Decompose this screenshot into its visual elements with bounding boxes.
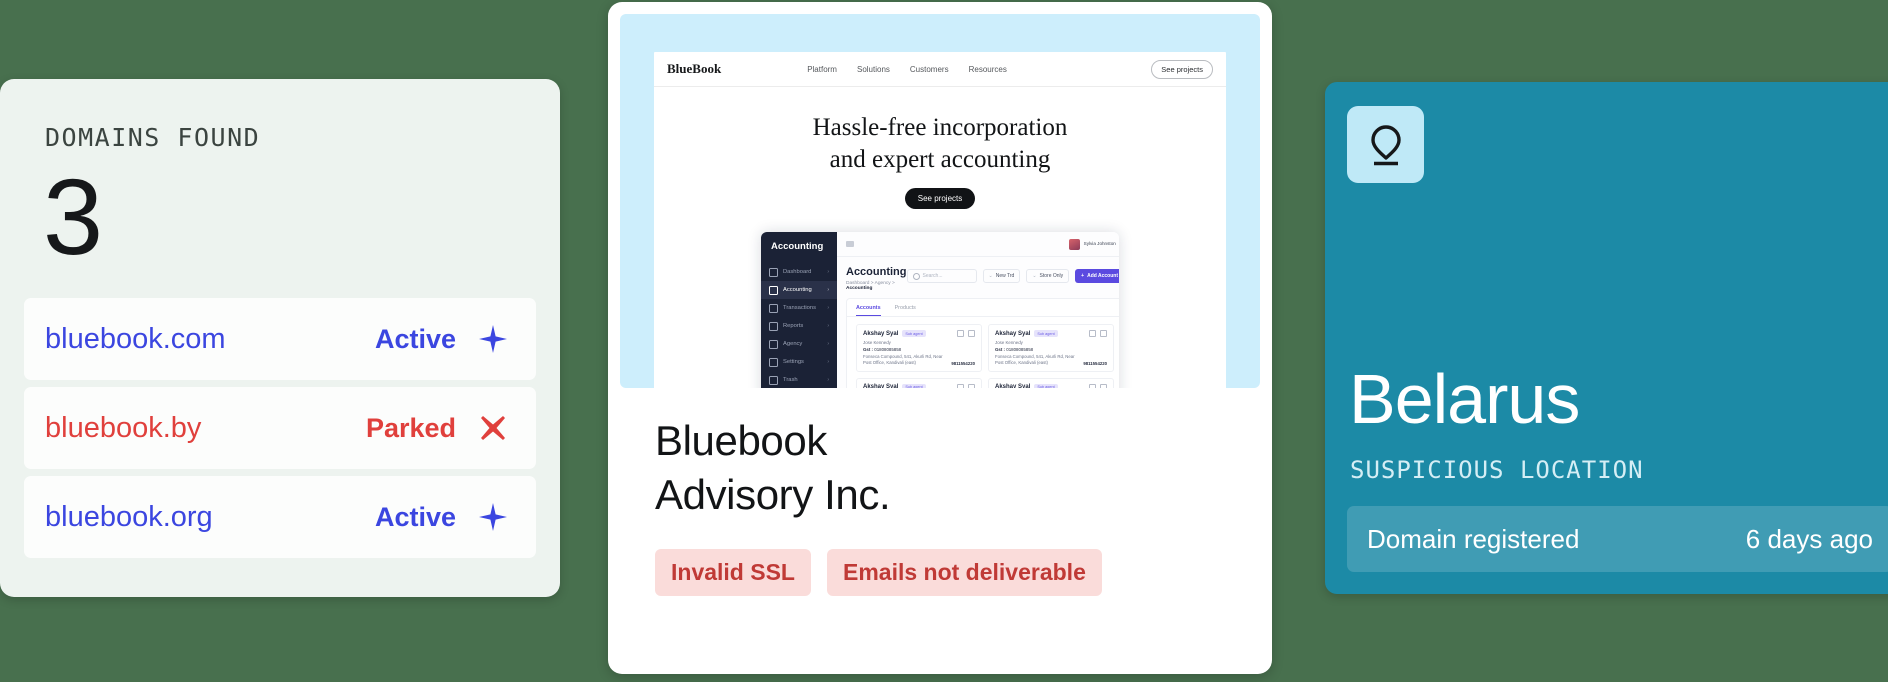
- dashboard-page-title: Accounting: [846, 266, 907, 278]
- website-preview-frame: BlueBook Platform Solutions Customers Re…: [620, 14, 1260, 388]
- domain-registered-row: Domain registered 6 days ago: [1347, 506, 1888, 572]
- tab-products[interactable]: Products: [895, 305, 916, 316]
- company-name-line2: Advisory Inc.: [620, 468, 1260, 522]
- domains-found-count: 3: [43, 162, 536, 272]
- account-footer: Fonseca Compound, 541, Akurli Rd, Near P…: [995, 354, 1107, 366]
- preview-nav-links: Platform Solutions Customers Resources: [807, 65, 1007, 74]
- dashboard-header: Accounting Dashboard > Agency > Accounti…: [837, 257, 1119, 291]
- sidebar-item-label: Dashboard: [783, 269, 811, 275]
- account-phone: 9811554220: [1083, 361, 1107, 366]
- preview-logo: BlueBook: [667, 61, 721, 77]
- trash-icon[interactable]: [968, 330, 975, 337]
- preview-navbar: BlueBook Platform Solutions Customers Re…: [654, 52, 1226, 87]
- chevron-right-icon: ›: [827, 305, 829, 311]
- domain-registered-value: 6 days ago: [1746, 524, 1873, 555]
- trash-icon[interactable]: [1100, 384, 1107, 388]
- sidebar-item-label: Settings: [783, 359, 804, 365]
- breadcrumb: Dashboard > Agency > Accounting: [846, 281, 907, 291]
- website-preview[interactable]: BlueBook Platform Solutions Customers Re…: [654, 52, 1226, 388]
- account-badge: Sub agent: [902, 384, 925, 388]
- plus-icon: +: [1081, 273, 1084, 279]
- sidebar-item-accounting[interactable]: Accounting ›: [761, 281, 837, 299]
- domain-row-bluebook-by[interactable]: bluebook.by Parked: [24, 387, 536, 469]
- domain-status: Active: [375, 502, 456, 533]
- sidebar-item-label: Agency: [783, 341, 802, 347]
- dashboard-toolbar: Search... ⌄ New Trd ⌄ Store Only: [907, 266, 1120, 283]
- sidebar-item-label: Accounting: [783, 287, 812, 293]
- domain-name: bluebook.com: [45, 323, 226, 356]
- dashboard-icon: [769, 268, 778, 277]
- preview-nav-platform[interactable]: Platform: [807, 65, 837, 74]
- filter-dropdown-two[interactable]: ⌄ Store Only: [1026, 269, 1069, 283]
- account-name: Akshay Syal: [995, 331, 1030, 337]
- chevron-right-icon: ›: [827, 341, 829, 347]
- plus-icon[interactable]: [472, 318, 514, 360]
- search-input[interactable]: Search...: [907, 269, 977, 283]
- add-account-button[interactable]: + Add Account: [1075, 269, 1119, 283]
- hamburger-icon[interactable]: [846, 241, 854, 247]
- domains-found-card: DOMAINS FOUND 3 bluebook.com Active blue…: [0, 79, 560, 597]
- account-actions: [1089, 330, 1107, 337]
- edit-icon[interactable]: [957, 384, 964, 388]
- account-name: Akshay Syal: [863, 331, 898, 337]
- domain-name: bluebook.by: [45, 412, 201, 445]
- gst-label: Gst :: [863, 347, 873, 352]
- status-badge-invalid-ssl[interactable]: Invalid SSL: [655, 549, 811, 596]
- breadcrumb-current: Accounting: [846, 286, 872, 291]
- preview-headline-line1: Hassle-free incorporation: [664, 112, 1216, 144]
- dashboard-sidebar: Accounting Dashboard › Accounting ›: [761, 232, 837, 388]
- account-badge: Sub agent: [1034, 384, 1057, 388]
- account-actions: [957, 384, 975, 388]
- accounting-icon: [769, 286, 778, 295]
- account-actions: [1089, 384, 1107, 388]
- domain-row-bluebook-org[interactable]: bluebook.org Active: [24, 476, 536, 558]
- dashboard-main: Sylvia Johnston ⌄ Accounting Dashboard >…: [837, 232, 1119, 388]
- account-phone: 9811554220: [951, 361, 975, 366]
- sidebar-item-label: Reports: [783, 323, 803, 329]
- domain-registered-label: Domain registered: [1367, 524, 1579, 555]
- search-icon: [913, 273, 920, 280]
- chevron-right-icon: ›: [827, 323, 829, 329]
- plus-icon[interactable]: [472, 496, 514, 538]
- edit-icon[interactable]: [1089, 330, 1096, 337]
- account-name: Akshay Syal: [863, 384, 898, 388]
- account-card[interactable]: Akshay Syal Sub agent Jose Kennedy Gst: [856, 324, 982, 372]
- preview-nav-resources[interactable]: Resources: [969, 65, 1007, 74]
- company-card: BlueBook Platform Solutions Customers Re…: [608, 2, 1272, 674]
- map-pin-icon: [1347, 106, 1424, 183]
- preview-headline-line2: and expert accounting: [664, 144, 1216, 176]
- domain-name: bluebook.org: [45, 501, 213, 534]
- account-card[interactable]: Akshay Syal Sub agent Jose Kennedy Gst: [856, 378, 982, 388]
- account-badge: Sub agent: [902, 330, 925, 336]
- transactions-icon: [769, 304, 778, 313]
- trash-icon: [769, 376, 778, 385]
- filter-two-label: Store Only: [1040, 273, 1064, 279]
- sidebar-item-label: Transactions: [783, 305, 816, 311]
- gst-value: 01808085858: [874, 347, 901, 352]
- chevron-right-icon: ›: [827, 359, 829, 365]
- location-subtitle: SUSPICIOUS LOCATION: [1350, 456, 1888, 484]
- search-placeholder: Search...: [923, 273, 943, 279]
- sidebar-item-dashboard[interactable]: Dashboard ›: [761, 263, 837, 281]
- edit-icon[interactable]: [1089, 384, 1096, 388]
- chevron-right-icon: ›: [827, 269, 829, 275]
- domain-row-bluebook-com[interactable]: bluebook.com Active: [24, 298, 536, 380]
- company-warning-flags: Invalid SSL Emails not deliverable: [620, 522, 1260, 596]
- gst-value: 01808085858: [1006, 347, 1033, 352]
- domains-found-label: DOMAINS FOUND: [45, 123, 536, 152]
- add-account-label: Add Account: [1087, 273, 1118, 279]
- company-name-line1: Bluebook: [620, 388, 1260, 468]
- account-contact: Jose Kennedy: [863, 340, 975, 345]
- filter-one-label: New Trd: [996, 273, 1015, 279]
- account-card[interactable]: Akshay Syal Sub agent Jose Kennedy Gst: [988, 378, 1114, 388]
- gst-label: Gst :: [995, 347, 1005, 352]
- domain-status: Parked: [366, 413, 456, 444]
- account-badge: Sub agent: [1034, 330, 1057, 336]
- trash-icon[interactable]: [1100, 330, 1107, 337]
- user-menu[interactable]: Sylvia Johnston ⌄: [1069, 239, 1119, 250]
- gear-icon: [769, 358, 778, 367]
- accounts-panel: Accounts Products Akshay Syal Sub agent: [846, 298, 1119, 388]
- cross-icon[interactable]: [472, 407, 514, 449]
- accounts-tabs: Accounts Products: [847, 299, 1119, 317]
- chevron-down-icon: ⌄: [989, 273, 993, 279]
- accounts-grid: Akshay Syal Sub agent Jose Kennedy Gst: [847, 317, 1119, 388]
- account-contact: Jose Kennedy: [995, 340, 1107, 345]
- sidebar-item-transactions[interactable]: Transactions ›: [761, 299, 837, 317]
- status-badge-emails-not-deliverable[interactable]: Emails not deliverable: [827, 549, 1102, 596]
- edit-icon[interactable]: [957, 330, 964, 337]
- account-gst: Gst : 01808085858: [863, 347, 975, 352]
- account-header: Akshay Syal Sub agent: [995, 330, 1107, 337]
- dashboard-canvas: DOMAINS FOUND 3 bluebook.com Active blue…: [0, 0, 1888, 682]
- account-card[interactable]: Akshay Syal Sub agent Jose Kennedy Gst: [988, 324, 1114, 372]
- dashboard-mockup: Accounting Dashboard › Accounting ›: [761, 232, 1119, 388]
- spacer: [1347, 183, 1888, 364]
- account-actions: [957, 330, 975, 337]
- domain-list: bluebook.com Active bluebook.by Parked: [24, 298, 536, 558]
- account-footer: Fonseca Compound, 541, Akurli Rd, Near P…: [863, 354, 975, 366]
- chevron-right-icon: ›: [827, 377, 829, 383]
- location-card: Belarus SUSPICIOUS LOCATION Domain regis…: [1325, 82, 1888, 594]
- account-name: Akshay Syal: [995, 384, 1030, 388]
- reports-icon: [769, 322, 778, 331]
- trash-icon[interactable]: [968, 384, 975, 388]
- filter-dropdown-one[interactable]: ⌄ New Trd: [983, 269, 1021, 283]
- sidebar-item-label: Trash: [783, 377, 798, 383]
- account-gst: Gst : 01808085858: [995, 347, 1107, 352]
- sidebar-item-trash[interactable]: Trash ›: [761, 371, 837, 388]
- account-address: Fonseca Compound, 541, Akurli Rd, Near P…: [863, 354, 945, 366]
- tab-accounts[interactable]: Accounts: [856, 305, 881, 316]
- chevron-right-icon: ›: [827, 287, 829, 293]
- domain-status: Active: [375, 324, 456, 355]
- user-name: Sylvia Johnston: [1084, 241, 1116, 248]
- location-country: Belarus: [1349, 364, 1888, 434]
- account-header: Akshay Syal Sub agent: [863, 384, 975, 388]
- sidebar-item-agency[interactable]: Agency ›: [761, 335, 837, 353]
- preview-see-projects-button[interactable]: See projects: [1151, 60, 1213, 79]
- preview-hero: Hassle-free incorporation and expert acc…: [654, 87, 1226, 209]
- dashboard-topbar: Sylvia Johnston ⌄: [837, 232, 1119, 257]
- avatar: [1069, 239, 1080, 250]
- dashboard-sidebar-title: Accounting: [761, 241, 837, 263]
- account-address: Fonseca Compound, 541, Akurli Rd, Near P…: [995, 354, 1077, 366]
- account-header: Akshay Syal Sub agent: [995, 384, 1107, 388]
- account-header: Akshay Syal Sub agent: [863, 330, 975, 337]
- sidebar-item-settings[interactable]: Settings ›: [761, 353, 837, 371]
- preview-nav-customers[interactable]: Customers: [910, 65, 949, 74]
- preview-nav-solutions[interactable]: Solutions: [857, 65, 890, 74]
- chevron-down-icon: ⌄: [1032, 273, 1036, 279]
- agency-icon: [769, 340, 778, 349]
- preview-hero-button[interactable]: See projects: [905, 188, 975, 209]
- sidebar-item-reports[interactable]: Reports ›: [761, 317, 837, 335]
